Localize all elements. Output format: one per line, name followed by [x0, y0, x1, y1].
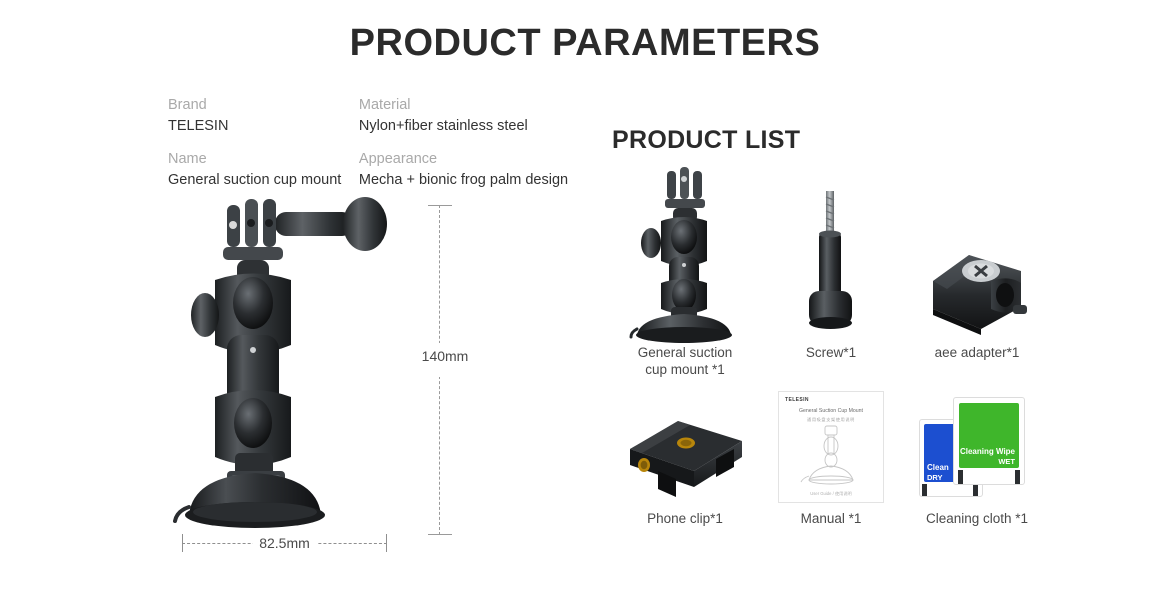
product-list-row: Phone clip*1 TELESIN General Suction Cup…	[612, 378, 1052, 527]
hero-product-image	[175, 185, 410, 530]
lower-ball-joint	[234, 398, 272, 448]
product-item-caption: Screw*1	[806, 344, 856, 361]
product-item-caption: General suction cup mount *1	[638, 344, 733, 378]
dry-wipe-label: Clean	[927, 463, 949, 472]
product-item-caption: Manual *1	[801, 510, 862, 527]
dimension-height: 140mm	[424, 205, 464, 535]
product-item-caption: Phone clip*1	[647, 510, 723, 527]
spec-value: TELESIN	[168, 116, 359, 136]
manual-footer: User Guide / 使用说明	[779, 491, 883, 497]
dimension-cap-top	[428, 205, 452, 206]
product-item-phone-clip: Phone clip*1	[612, 378, 758, 527]
wet-wipe-sachet: Cleaning Wipe WET	[953, 397, 1025, 485]
mount-plate	[223, 247, 283, 260]
product-item-screw: Screw*1	[758, 165, 904, 378]
caption-line-2: cup mount *1	[645, 362, 725, 377]
dimension-cap-right	[386, 534, 387, 552]
adjust-knob	[191, 293, 219, 337]
product-item-aee-adapter: aee adapter*1	[904, 165, 1050, 378]
product-parameters-page: PRODUCT PARAMETERS Brand TELESIN Materia…	[0, 0, 1170, 600]
screw-icon	[801, 165, 861, 337]
dimension-width-label: 82.5mm	[252, 533, 317, 554]
spec-label: Brand	[168, 95, 359, 115]
manual-title: General Suction Cup Mount	[779, 408, 883, 414]
manual-subtitle: 通用吸盘支架使用说明	[779, 417, 883, 423]
aee-adapter-icon	[925, 165, 1029, 337]
spec-value: Nylon+fiber stainless steel	[359, 116, 588, 136]
caption-line-1: General suction	[638, 345, 733, 360]
spec-label: Name	[168, 149, 359, 169]
spec-label: Appearance	[359, 149, 588, 169]
thumbscrew-knob	[343, 197, 387, 251]
product-list-grid: General suction cup mount *1	[612, 165, 1052, 527]
dimension-width: 82.5mm	[182, 533, 387, 559]
manual-brand: TELESIN	[785, 397, 809, 403]
product-item-manual: TELESIN General Suction Cup Mount 通用吸盘支架…	[758, 378, 904, 527]
product-item-cleaning-cloth: Clean DRY Cleaning Wipe WET	[904, 378, 1050, 527]
upper-ball-joint	[233, 277, 273, 329]
product-list-row: General suction cup mount *1	[612, 165, 1052, 378]
spec-label: Material	[359, 95, 588, 115]
dimension-cap-bottom	[428, 534, 452, 535]
manual-icon: TELESIN General Suction Cup Mount 通用吸盘支架…	[778, 378, 884, 503]
page-title: PRODUCT PARAMETERS	[0, 22, 1170, 65]
gopro-prong-fork	[227, 199, 276, 247]
product-list-title: PRODUCT LIST	[612, 126, 800, 155]
cleaning-cloth-icon: Clean DRY Cleaning Wipe WET	[919, 378, 1035, 503]
spec-item-material: Material Nylon+fiber stainless steel	[359, 95, 588, 149]
spec-item-brand: Brand TELESIN	[168, 95, 359, 149]
product-item-caption: aee adapter*1	[935, 344, 1020, 361]
spec-row: Brand TELESIN Material Nylon+fiber stain…	[168, 95, 588, 149]
wet-wipe-label: Cleaning Wipe	[960, 447, 1015, 456]
thumbscrew-shaft	[275, 212, 353, 236]
dimension-height-label: 140mm	[410, 348, 480, 364]
phone-clip-icon	[620, 378, 750, 503]
dry-wipe-tag: DRY	[927, 473, 943, 482]
suction-cup-mount-icon	[631, 165, 739, 337]
wet-wipe-tag: WET	[998, 457, 1015, 466]
product-item-caption: Cleaning cloth *1	[926, 510, 1028, 527]
product-item-suction-cup-mount: General suction cup mount *1	[612, 165, 758, 378]
